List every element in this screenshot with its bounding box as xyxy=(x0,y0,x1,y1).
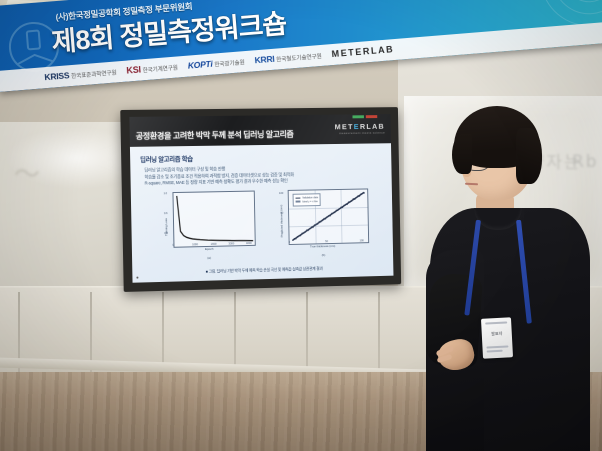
chart-b-legend: Validation data Ideal y = x line xyxy=(293,193,321,206)
sponsor-logo-meterlab: METERLAB xyxy=(331,44,394,59)
chart-a-xtick: 1000 xyxy=(192,243,198,246)
chart-b-ytick: 100 xyxy=(279,192,283,195)
legend-swatch xyxy=(296,197,301,198)
chart-a-xtick: 3000 xyxy=(228,242,234,245)
chart-b-xlabel: True thickness (nm) xyxy=(310,244,335,249)
presenter-hair-side xyxy=(452,134,472,174)
chart-a-xtick: 0 xyxy=(172,244,173,247)
chart-b-xtick: 100 xyxy=(360,239,364,242)
slide-charts: Training Loss Epoch 0 1000 2000 3000 400… xyxy=(139,186,391,264)
chart-b-xtick: 0 xyxy=(289,241,290,244)
slide-figure-caption: ■ 그림. 딥러닝 기반 박막 두께 예측 학습 손실 곡선 및 예측값-실측값… xyxy=(132,265,393,277)
sponsor-logo-ksi: KSI 한국기계연구원 xyxy=(126,61,178,75)
chart-a-ytick: 0.2 xyxy=(164,232,168,235)
chart-b-plot-area: Validation data Ideal y = x line xyxy=(288,188,369,245)
chart-parity-plot: Validation data Ideal y = x line Predict… xyxy=(274,186,371,257)
chart-a-xtick: 2000 xyxy=(211,243,217,246)
slide-section-heading: 딥러닝 알고리즘 학습 xyxy=(140,151,384,164)
chart-a-xtick: 4000 xyxy=(246,242,252,245)
chart-b-ytick: 50 xyxy=(280,212,283,215)
legend-label: Ideal y = x line xyxy=(302,200,317,203)
chart-a-ytick: 0.6 xyxy=(164,212,168,215)
chart-a-ytick: 1.0 xyxy=(164,192,168,195)
presentation-screen: 공정환경을 고려한 박막 두께 분석 딥러닝 알고리즘 METERLAB mea… xyxy=(129,114,393,283)
chart-a-caption: (a) xyxy=(160,255,258,261)
chart-b-caption: (b) xyxy=(275,252,371,258)
chart-training-loss: Training Loss Epoch 0 1000 2000 3000 400… xyxy=(159,189,258,261)
accent-red xyxy=(366,115,377,118)
presenter: 발표자 xyxy=(424,104,602,451)
legend-item: Ideal y = x line xyxy=(296,200,319,203)
sponsor-logo-kopti: KOPTi 한국광기술원 xyxy=(187,56,245,71)
presentation-room-photo: 배경 양자는 Rb 〜 (사)한국정밀공학회 정밀측정 부문위 xyxy=(0,0,602,451)
slide-title: 공정환경을 고려한 박막 두께 분석 딥러닝 알고리즘 xyxy=(136,128,294,142)
chart-b-xtick: 50 xyxy=(325,240,328,243)
sponsor-logo-krri: KRRI 한국철도기술연구원 xyxy=(254,50,322,65)
whiteboard-left-marking: 〜 xyxy=(14,154,40,191)
slide-header: 공정환경을 고려한 박막 두께 분석 딥러닝 알고리즘 METERLAB mea… xyxy=(129,114,391,147)
chart-a-xlabel: Epoch xyxy=(205,247,213,251)
chart-b-ytick: 0 xyxy=(282,231,283,234)
slide-bullet-list: 딥러닝 알고리즘의 학습 데이터 구성 및 학습 진행 학습률 감소 및 조기종… xyxy=(144,164,384,187)
presenter-hair-back xyxy=(516,128,542,184)
chart-a-plot-area xyxy=(172,191,255,248)
projection-screen-frame: 공정환경을 고려한 박막 두께 분석 딥러닝 알고리즘 METERLAB mea… xyxy=(120,107,401,292)
screen-power-indicator xyxy=(136,277,138,279)
accent-green xyxy=(352,115,363,118)
banner-title-prefix: 제8회 xyxy=(50,23,114,58)
banner-title-main: 정밀측정워크숍 xyxy=(118,9,287,52)
name-badge: 발표자 xyxy=(481,317,513,359)
legend-swatch xyxy=(296,201,301,202)
meterlab-tagline: measurement meets science xyxy=(339,131,385,136)
slide-body: 딥러닝 알고리즘 학습 딥러닝 알고리즘의 학습 데이터 구성 및 학습 진행 … xyxy=(130,143,394,283)
name-badge-text: 발표자 xyxy=(486,330,508,337)
slide-status-accents xyxy=(352,115,377,118)
sponsor-logo-kriss: KRISS 한국표준과학연구원 xyxy=(44,66,117,82)
